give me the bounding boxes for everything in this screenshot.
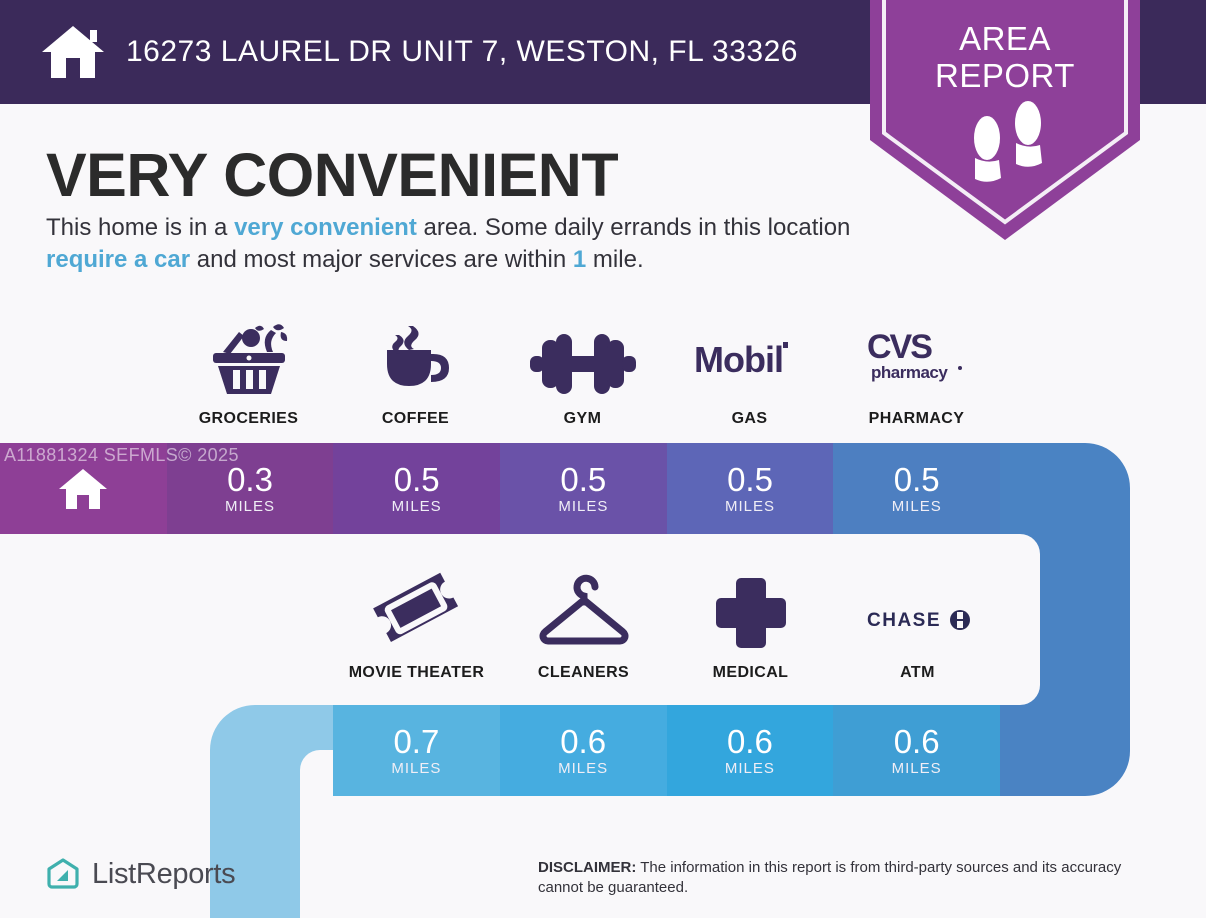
icon-cell-coffee: COFFEE (332, 318, 499, 428)
distance-unit: MILES (892, 760, 942, 777)
distance-value: 0.7 (393, 725, 439, 759)
movie-ticket-icon (369, 572, 465, 650)
icon-caption: MOVIE THEATER (349, 664, 485, 682)
icon-caption: GROCERIES (199, 410, 299, 428)
bar-segment-gym: 0.5 MILES (500, 443, 667, 534)
distance-value: 0.5 (560, 463, 606, 497)
bar-segment-gas: 0.5 MILES (667, 443, 834, 534)
listreports-logo (46, 857, 80, 891)
disclaimer: DISCLAIMER: The information in this repo… (538, 858, 1168, 898)
chase-logo: CHASE (859, 572, 977, 650)
home-icon (57, 467, 109, 511)
distance-value: 0.5 (394, 463, 440, 497)
icon-row-secondary: MOVIE THEATER CLEANERS MEDICAL CHAS (333, 572, 1001, 682)
distance-unit: MILES (558, 760, 608, 777)
distance-value: 0.3 (227, 463, 273, 497)
icon-cell-groceries: GROCERIES (165, 318, 332, 428)
svg-text:Mobil: Mobil (694, 339, 783, 380)
area-report-badge: AREA REPORT (860, 0, 1150, 248)
coffee-cup-icon (375, 318, 457, 396)
grocery-basket-icon (205, 318, 293, 396)
icon-caption: COFFEE (382, 410, 449, 428)
svg-text:CHASE: CHASE (867, 610, 941, 631)
icon-cell-movie-theater: MOVIE THEATER (333, 572, 500, 682)
icon-caption: PHARMACY (869, 410, 965, 428)
distance-unit: MILES (725, 498, 775, 515)
distance-unit: MILES (892, 498, 942, 515)
distance-bar-row-2: 0.7 MILES 0.6 MILES 0.6 MILES 0.6 MILES (333, 705, 1000, 796)
dumbbell-icon (528, 318, 638, 396)
area-report-page: 16273 LAUREL DR UNIT 7, WESTON, FL 33326… (0, 0, 1206, 918)
distance-unit: MILES (558, 498, 608, 515)
bar-segment-medical: 0.6 MILES (667, 705, 834, 796)
icon-row-primary: GROCERIES COFFEE (165, 318, 1000, 428)
cvs-pharmacy-logo: CVS pharmacy (861, 318, 973, 396)
mobil-logo: Mobil (691, 318, 809, 396)
icon-cell-medical: MEDICAL (667, 572, 834, 682)
distance-unit: MILES (225, 498, 275, 515)
distance-value: 0.6 (894, 725, 940, 759)
badge-line-1: AREA (959, 20, 1051, 57)
bar-segment-coffee: 0.5 MILES (333, 443, 500, 534)
listreports-brand: ListReports (46, 857, 235, 891)
icon-caption: ATM (900, 664, 935, 682)
icon-cell-atm: CHASE ATM (834, 572, 1001, 682)
icon-caption: MEDICAL (713, 664, 789, 682)
icon-caption: GYM (564, 410, 602, 428)
badge-label: AREA REPORT (860, 20, 1150, 94)
icon-caption: GAS (732, 410, 768, 428)
clothes-hanger-icon (533, 572, 635, 650)
distance-value: 0.5 (727, 463, 773, 497)
icon-caption: CLEANERS (538, 664, 629, 682)
bar-segment-pharmacy: 0.5 MILES (833, 443, 1000, 534)
bar-segment-atm: 0.6 MILES (833, 705, 1000, 796)
distance-value: 0.6 (727, 725, 773, 759)
distance-bar-row-1: 0.3 MILES 0.5 MILES 0.5 MILES 0.5 MILES … (0, 443, 1000, 534)
distance-value: 0.6 (560, 725, 606, 759)
distance-unit: MILES (391, 760, 441, 777)
bar-segment-cleaners: 0.6 MILES (500, 705, 667, 796)
icon-cell-gym: GYM (499, 318, 666, 428)
distance-unit: MILES (392, 498, 442, 515)
bar-segment-groceries: 0.3 MILES (167, 443, 334, 534)
bar-segment-movie-theater: 0.7 MILES (333, 705, 500, 796)
icon-cell-gas: Mobil GAS (666, 318, 833, 428)
svg-text:CVS: CVS (867, 328, 932, 366)
badge-line-2: REPORT (935, 57, 1075, 94)
icon-cell-pharmacy: CVS pharmacy PHARMACY (833, 318, 1000, 428)
icon-cell-cleaners: CLEANERS (500, 572, 667, 682)
medical-cross-icon (714, 572, 788, 650)
svg-text:pharmacy: pharmacy (871, 363, 948, 382)
bar-segment-home (0, 443, 167, 534)
brand-name: ListReports (92, 858, 235, 891)
distance-value: 0.5 (894, 463, 940, 497)
distance-unit: MILES (725, 760, 775, 777)
disclaimer-label: DISCLAIMER: (538, 859, 636, 876)
